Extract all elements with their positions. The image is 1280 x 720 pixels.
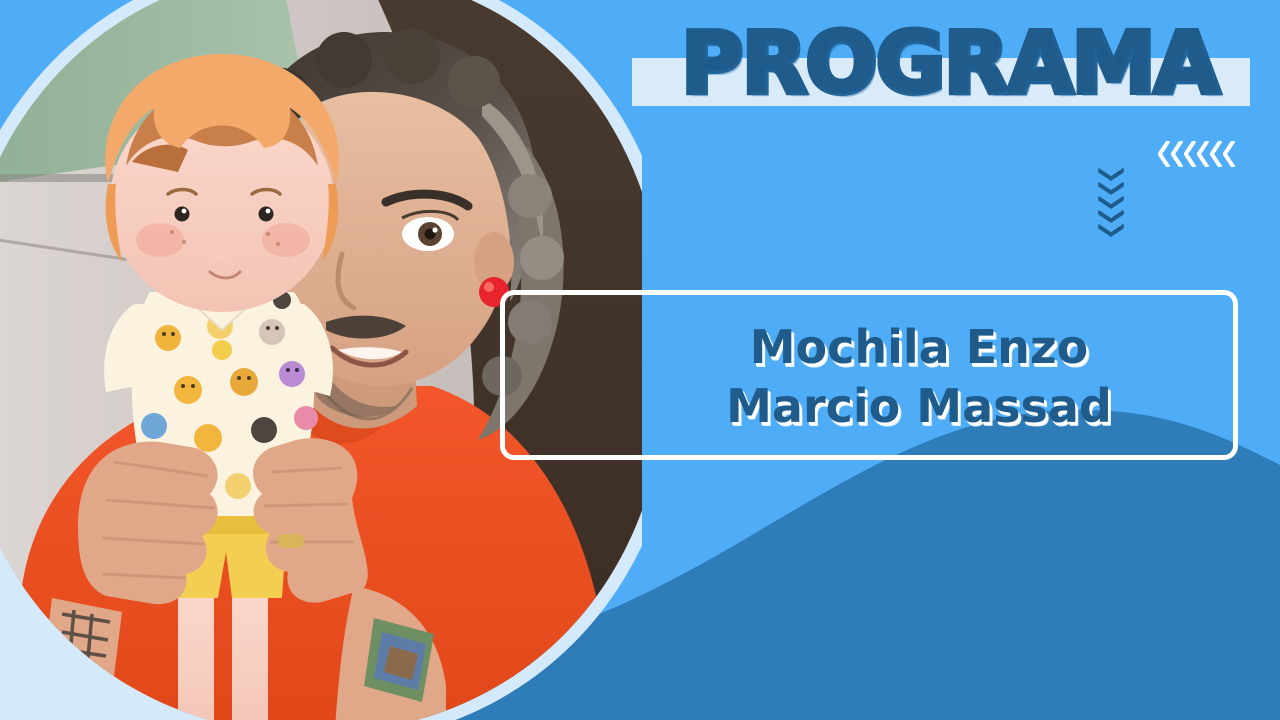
- session-title-line-1: Mochila Enzo: [750, 318, 1089, 377]
- chevron-down-icon: [1098, 182, 1124, 195]
- chevron-left-icon: [1197, 141, 1209, 167]
- chevron-down-icon: [1098, 224, 1124, 237]
- chevron-left-icon: [1158, 141, 1170, 167]
- session-title-line-2: Marcio Massad: [726, 377, 1112, 436]
- chevron-down-column: [1098, 168, 1124, 237]
- chevron-left-row: [1158, 141, 1235, 167]
- chevron-down-icon: [1098, 196, 1124, 209]
- chevron-left-icon: [1223, 141, 1235, 167]
- chevron-left-icon: [1210, 141, 1222, 167]
- chevron-left-icon: [1171, 141, 1183, 167]
- page-title: PROGRAMA: [640, 16, 1260, 110]
- slide-canvas: PROGRAMA Mochila Enzo Marcio Massad: [0, 0, 1280, 720]
- chevron-left-icon: [1184, 141, 1196, 167]
- session-title: Mochila Enzo Marcio Massad: [600, 312, 1238, 442]
- chevron-down-icon: [1098, 210, 1124, 223]
- chevron-down-icon: [1098, 168, 1124, 181]
